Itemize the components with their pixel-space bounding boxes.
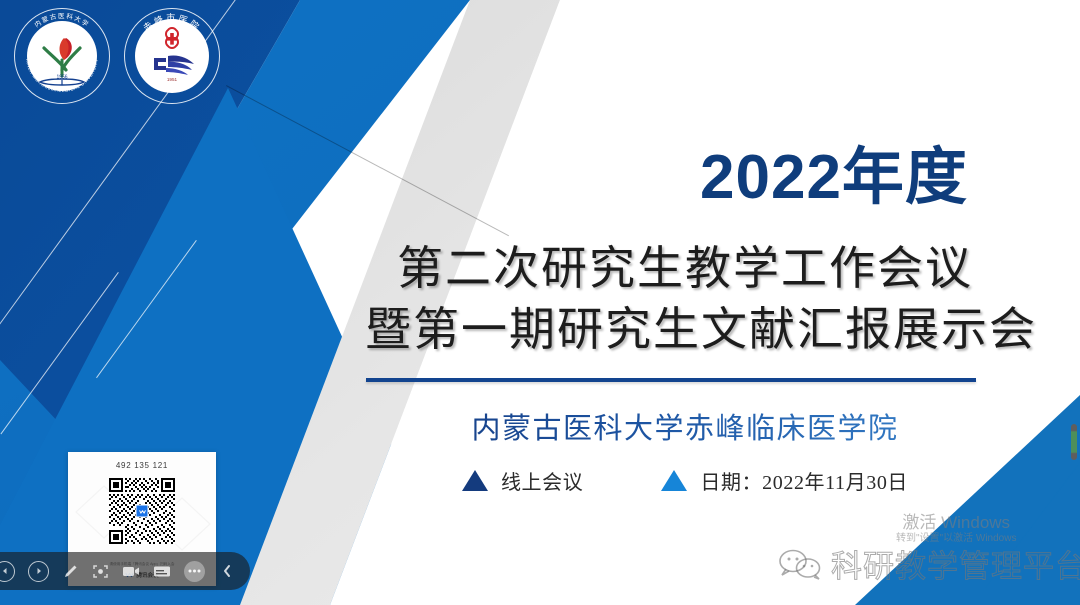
red-cross-icon <box>166 28 178 48</box>
meeting-id: 492 135 121 <box>68 461 216 470</box>
pen-icon <box>62 563 79 580</box>
inner-mongolia-medical-university-logo: 内蒙古医科大学 INNER MONGOLIA MEDICAL UNIVERSIT… <box>14 8 110 104</box>
title-divider <box>366 378 976 382</box>
previous-slide-icon <box>0 561 15 582</box>
collapse-toolbar-button[interactable] <box>222 564 232 578</box>
chevron-left-icon <box>1 567 9 575</box>
chifeng-municipal-hospital-logo: 赤峰市医院 Chifeng Municipal Hospital 1951 <box>124 8 220 104</box>
laser-pointer-button[interactable] <box>92 563 109 580</box>
university-emblem: 1956 <box>14 8 110 104</box>
pen-tool-button[interactable] <box>62 563 79 580</box>
wechat-banner-label: 科研教学管理平台 <box>831 541 1080 586</box>
hospital-emblem: 1951 <box>124 8 220 104</box>
logo-group: 内蒙古医科大学 INNER MONGOLIA MEDICAL UNIVERSIT… <box>14 8 220 104</box>
subtitle-panel-icon <box>153 565 171 578</box>
scrollbar-thumb[interactable] <box>1071 424 1077 460</box>
meta-label-format: 线上会议 <box>501 466 583 495</box>
ellipsis-icon <box>188 569 201 573</box>
more-options-icon <box>184 561 205 582</box>
triangle-bullet-icon <box>661 470 687 491</box>
meta-item-date: 日期：2022年11月30日 <box>661 466 908 495</box>
qr-center-logo <box>136 505 149 518</box>
focus-target-icon <box>92 563 109 580</box>
next-slide-button[interactable] <box>28 561 49 582</box>
previous-slide-button[interactable] <box>0 561 15 582</box>
subtitles-button[interactable] <box>153 565 171 578</box>
wechat-icon <box>778 548 822 580</box>
wechat-banner: 科研教学管理平台 <box>778 541 1080 586</box>
meta-row: 线上会议 日期：2022年11月30日 <box>365 466 1005 495</box>
tencent-meeting-icon <box>138 507 146 515</box>
triangle-bullet-icon <box>462 470 488 491</box>
organization-name: 内蒙古医科大学赤峰临床医学院 <box>365 405 1005 447</box>
video-camera-icon <box>122 564 140 578</box>
meta-label-date: 日期：2022年11月30日 <box>700 466 908 495</box>
title-line-1: 第二次研究生教学工作会议 <box>365 238 1005 299</box>
meta-item-format: 线上会议 <box>462 466 583 495</box>
next-slide-icon <box>28 561 49 582</box>
svg-text:1951: 1951 <box>167 77 178 82</box>
presentation-slide: 内蒙古医科大学 INNER MONGOLIA MEDICAL UNIVERSIT… <box>0 0 1080 605</box>
year-heading: 2022年度 <box>700 126 968 216</box>
slide-title: 第二次研究生教学工作会议 暨第一期研究生文献汇报展示会 <box>365 238 1005 360</box>
chevron-left-collapse-icon <box>222 564 232 578</box>
title-line-2: 暨第一期研究生文献汇报展示会 <box>365 299 1005 360</box>
presenter-view-button[interactable] <box>122 564 140 578</box>
slideshow-toolbar[interactable] <box>0 552 250 590</box>
more-options-button[interactable] <box>184 561 205 582</box>
chevron-right-icon <box>35 567 43 575</box>
